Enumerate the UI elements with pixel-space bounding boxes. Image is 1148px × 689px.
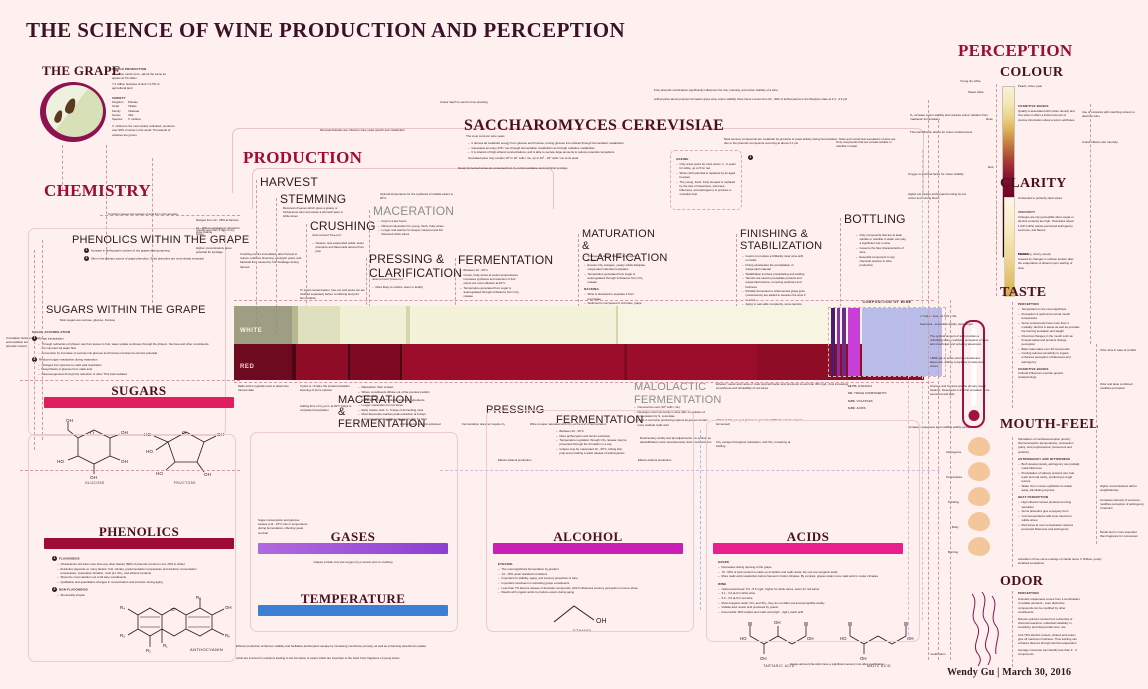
composition-segment-volatiles (837, 308, 840, 376)
o2-colour-note: O₂ increase colour stability and reduces… (910, 113, 994, 121)
colour-cognitive-block: COGNITIVE BIASES Quality is associated w… (1018, 104, 1076, 122)
taste-optimal-note: The optimal amount of acid provides a re… (930, 334, 990, 347)
finishing-notes: Goal is to produce a brilliantly clear w… (742, 253, 806, 311)
rail (234, 382, 934, 383)
step-pressing-clarification: PRESSING & CLARIFICATION (369, 252, 459, 280)
blob-label-astringence: Astringence (946, 450, 961, 454)
colour-top-label: Peach, citrus, pear (1018, 84, 1042, 88)
rail (20, 470, 240, 471)
acids-frame (706, 420, 920, 642)
monosaccharide-note: Monosaccharides are critical to wine yea… (320, 128, 470, 132)
section-perception-title: PERCEPTION (958, 41, 1072, 61)
section-chemistry-title: CHEMISTRY (44, 181, 151, 201)
mouthfeel-blob-prickling (968, 487, 990, 506)
crushing-subtitle: Juice termed "free-run" (312, 233, 368, 237)
colour-side-sweet-white: Sweet white (968, 90, 984, 94)
gases-side-note-3: Oxygen is a critical factor for colour s… (908, 172, 966, 176)
pressing-notes: More likely to oxidize, lower in acidity (372, 284, 430, 290)
colour-side-red: Red (988, 165, 993, 169)
yeast-subtitle: The most common wine yeast (466, 134, 504, 138)
variety-row: SpeciesV. vinifera (112, 117, 176, 121)
composition-segment-trace (842, 308, 846, 376)
alcohol-frame (486, 410, 694, 632)
step-bottling: BOTTLING (844, 212, 906, 226)
composition-segment-acids (831, 308, 835, 376)
rail (234, 300, 934, 301)
mouthfeel-blob-temperature (968, 462, 990, 481)
rail (922, 150, 923, 620)
red-band-label: RED (240, 364, 254, 370)
taste-glucose-note: Glucose and fructose are the primary swe… (930, 384, 990, 397)
legend-row: 86.0% WATER (848, 376, 887, 381)
odor-wins-note: Odor wins in case of conflict (1100, 348, 1140, 352)
ph-note: If juice is <3.4pH, the preferementation… (300, 384, 354, 392)
colour-side-young-white: Young dry white (960, 79, 980, 83)
section-yeast-title: SACCHAROMYCES CEREVISIAE (464, 117, 724, 135)
gases-side-note-2: Higher concentrations gives potential fo… (196, 246, 240, 254)
odor-block: PERCEPTION Aromatic uniqueness comes fro… (1018, 591, 1080, 657)
connector (1012, 591, 1013, 667)
connector (1096, 344, 1097, 544)
odor-taste-note: Odor and taste combined modifies percept… (1100, 382, 1142, 390)
perception-odor-title: ODOR (1000, 574, 1043, 590)
gases-temperature-frame (250, 432, 458, 632)
acids-bottom-note: Grape-derived phenolics have a significa… (790, 662, 960, 666)
crushing-below-note: Crushing occurs immediately after harves… (240, 252, 306, 269)
world-production-line-1: 60 million metric tons—about the same as… (112, 72, 174, 80)
ageing-side-note: 1 (748, 155, 808, 160)
maceration-notes: Kept to a few hours Minimal maceration f… (378, 218, 444, 237)
mouthfeel-right-note-2: Increases intensity of sourness, modifie… (1100, 498, 1144, 511)
mouthfeel-blob-burning (968, 537, 990, 556)
step-finishing-stabilization: FINISHING & STABILIZATION (740, 228, 810, 252)
world-production-label: WORLD PRODUCTION (112, 67, 146, 71)
grape-illustration (40, 82, 106, 142)
rail (950, 300, 951, 660)
rail (700, 430, 701, 610)
gases-side-note-1: Usually less than 5.4g/L in dry wines (196, 228, 240, 236)
section-the-grape-title: THE GRAPE (42, 63, 121, 79)
blob-label-temperature: Temperature (946, 475, 962, 479)
colour-depth-note: Colour depth is used to time pressing (440, 100, 600, 104)
bottling-notes: Only compounds that are at least soluble… (856, 232, 906, 268)
red-wine-flow-band: RED (234, 344, 924, 380)
bottling-soluble-note: Only compounds that are at least soluble… (836, 140, 896, 148)
taste-so2-note: +800mg/L of acetic acid is a deodorant f… (930, 356, 990, 369)
harvest-frame (252, 168, 554, 209)
rail (928, 100, 929, 660)
perception-mouthfeel-title: MOUTH-FEEL (1000, 417, 1099, 433)
mouthfeel-block: Stimulation of mechanoreception (touch),… (1018, 437, 1080, 531)
credit-line: Wendy Gu | March 30, 2016 (947, 667, 1071, 678)
white-wine-flow-band: WHITE (234, 306, 924, 344)
rail (20, 380, 240, 381)
rail (440, 470, 940, 471)
perception-clarity-title: CLARITY (1000, 176, 1067, 192)
perception-colour-title: COLOUR (1000, 65, 1063, 81)
maceration-fermentation-notes: Maceration: Skin contact Where constitue… (358, 384, 434, 421)
pressing-below-note: To avoid contamination, free-run and pre… (300, 288, 370, 301)
ethanol-ratio-note: Ethanol / acetic acid ratios of malic ac… (716, 382, 856, 390)
perception-taste-title: TASTE (1000, 285, 1046, 301)
colour-side-rose: Rose (986, 117, 993, 121)
connector (996, 196, 997, 296)
phenolic-colour-note: Free phenolic combination significantly … (654, 88, 844, 92)
clarity-intro: Unclouded to perfectly clear wines (1018, 196, 1074, 200)
temperature-note: Ethanol production enhances volatility a… (236, 644, 536, 648)
composition-segment-ethanol (848, 308, 860, 376)
connector (100, 215, 240, 216)
anthocyanin-note: Anthocyanin-tannin polymer formation giv… (654, 97, 864, 101)
blob-label-body: Body (952, 525, 959, 529)
legend-row: 0.4% ACIDS (848, 406, 887, 411)
step-malolactic-fermentation: MALOLACTIC FERMENTATION (634, 381, 698, 406)
step-fermentation-white: FERMENTATION (458, 253, 553, 267)
world-production-block: WORLD PRODUCTION 60 million metric tons—… (112, 67, 174, 90)
variety-block: VARIETY KingdomPlantae OrderVitales Fami… (112, 96, 176, 137)
clarity-viscosity-block: VISCOSITY Changes are city perceptible w… (1018, 210, 1076, 232)
svg-text:OH: OH (860, 656, 867, 661)
crushing-notes: Cleaner, less suspended solids, lower ph… (312, 240, 368, 254)
ageing-frame (670, 150, 742, 210)
acids-involved-note: Acids are involved in reactions leading … (236, 656, 536, 660)
mouthfeel-blob-astringence (968, 437, 990, 456)
phenolics-panel-border (28, 434, 236, 662)
sugars-color-bar (44, 397, 234, 408)
taste-perception-block: PERCEPTION Temperature is the most signi… (1018, 302, 1080, 379)
rail (938, 120, 939, 660)
legend-row: 13.7% ETHANOL (848, 384, 887, 389)
world-production-line-2: 7.4 million hectares of land = 0.5% of a… (112, 82, 174, 90)
newly-fermented-note: Newly fermented wines are protected from… (458, 166, 588, 170)
connector (1012, 302, 1013, 408)
odor-waves-icon (966, 590, 1000, 673)
infographic-canvas: THE SCIENCE OF WINE PRODUCTION AND PERCE… (0, 0, 1148, 689)
svg-text:OH: OH (66, 418, 73, 423)
pressing-subtitle: Juice termed "press-run" (372, 277, 430, 281)
white-band-label: WHITE (240, 328, 262, 334)
clarity-viscosity-bar (1004, 197, 1015, 297)
legend-row: 1% TRACE COMPONENTS (848, 391, 887, 396)
mouthfeel-right-note: Higher concentrations add to weight/dens… (1100, 484, 1142, 492)
clarity-tears-block: TEARS Caused by changes in surface tensi… (1018, 252, 1076, 270)
gases-side-note-4: Higher pH causes anthocyanins losing its… (908, 192, 966, 200)
step-crushing: CRUSHING (310, 219, 376, 233)
connector (1012, 437, 1013, 567)
mouthfeel-blob-body (968, 512, 990, 531)
mouthfeel-right-note-3: Mouth-feel is more important than fragra… (1100, 530, 1142, 538)
connector (1090, 104, 1091, 344)
malic-acid-note: Malic acid is typically used to determin… (238, 384, 294, 392)
fermentation-white-notes: Between 10 - 30°C Cooler, fruity wines a… (460, 267, 524, 299)
svg-text:OH: OH (760, 656, 767, 661)
legend-row: 0.2% VOLATILES (848, 399, 887, 404)
variety-note: V. vinifera is the most widely cultivate… (112, 124, 176, 137)
page-title: THE SCIENCE OF WINE PRODUCTION AND PERCE… (26, 18, 625, 43)
mouthfeel-bottom-note: Activation of free nerve endings of cran… (1018, 557, 1102, 565)
thermal-diffusion-note: Thermal diffusion allows for colour enha… (910, 130, 994, 134)
